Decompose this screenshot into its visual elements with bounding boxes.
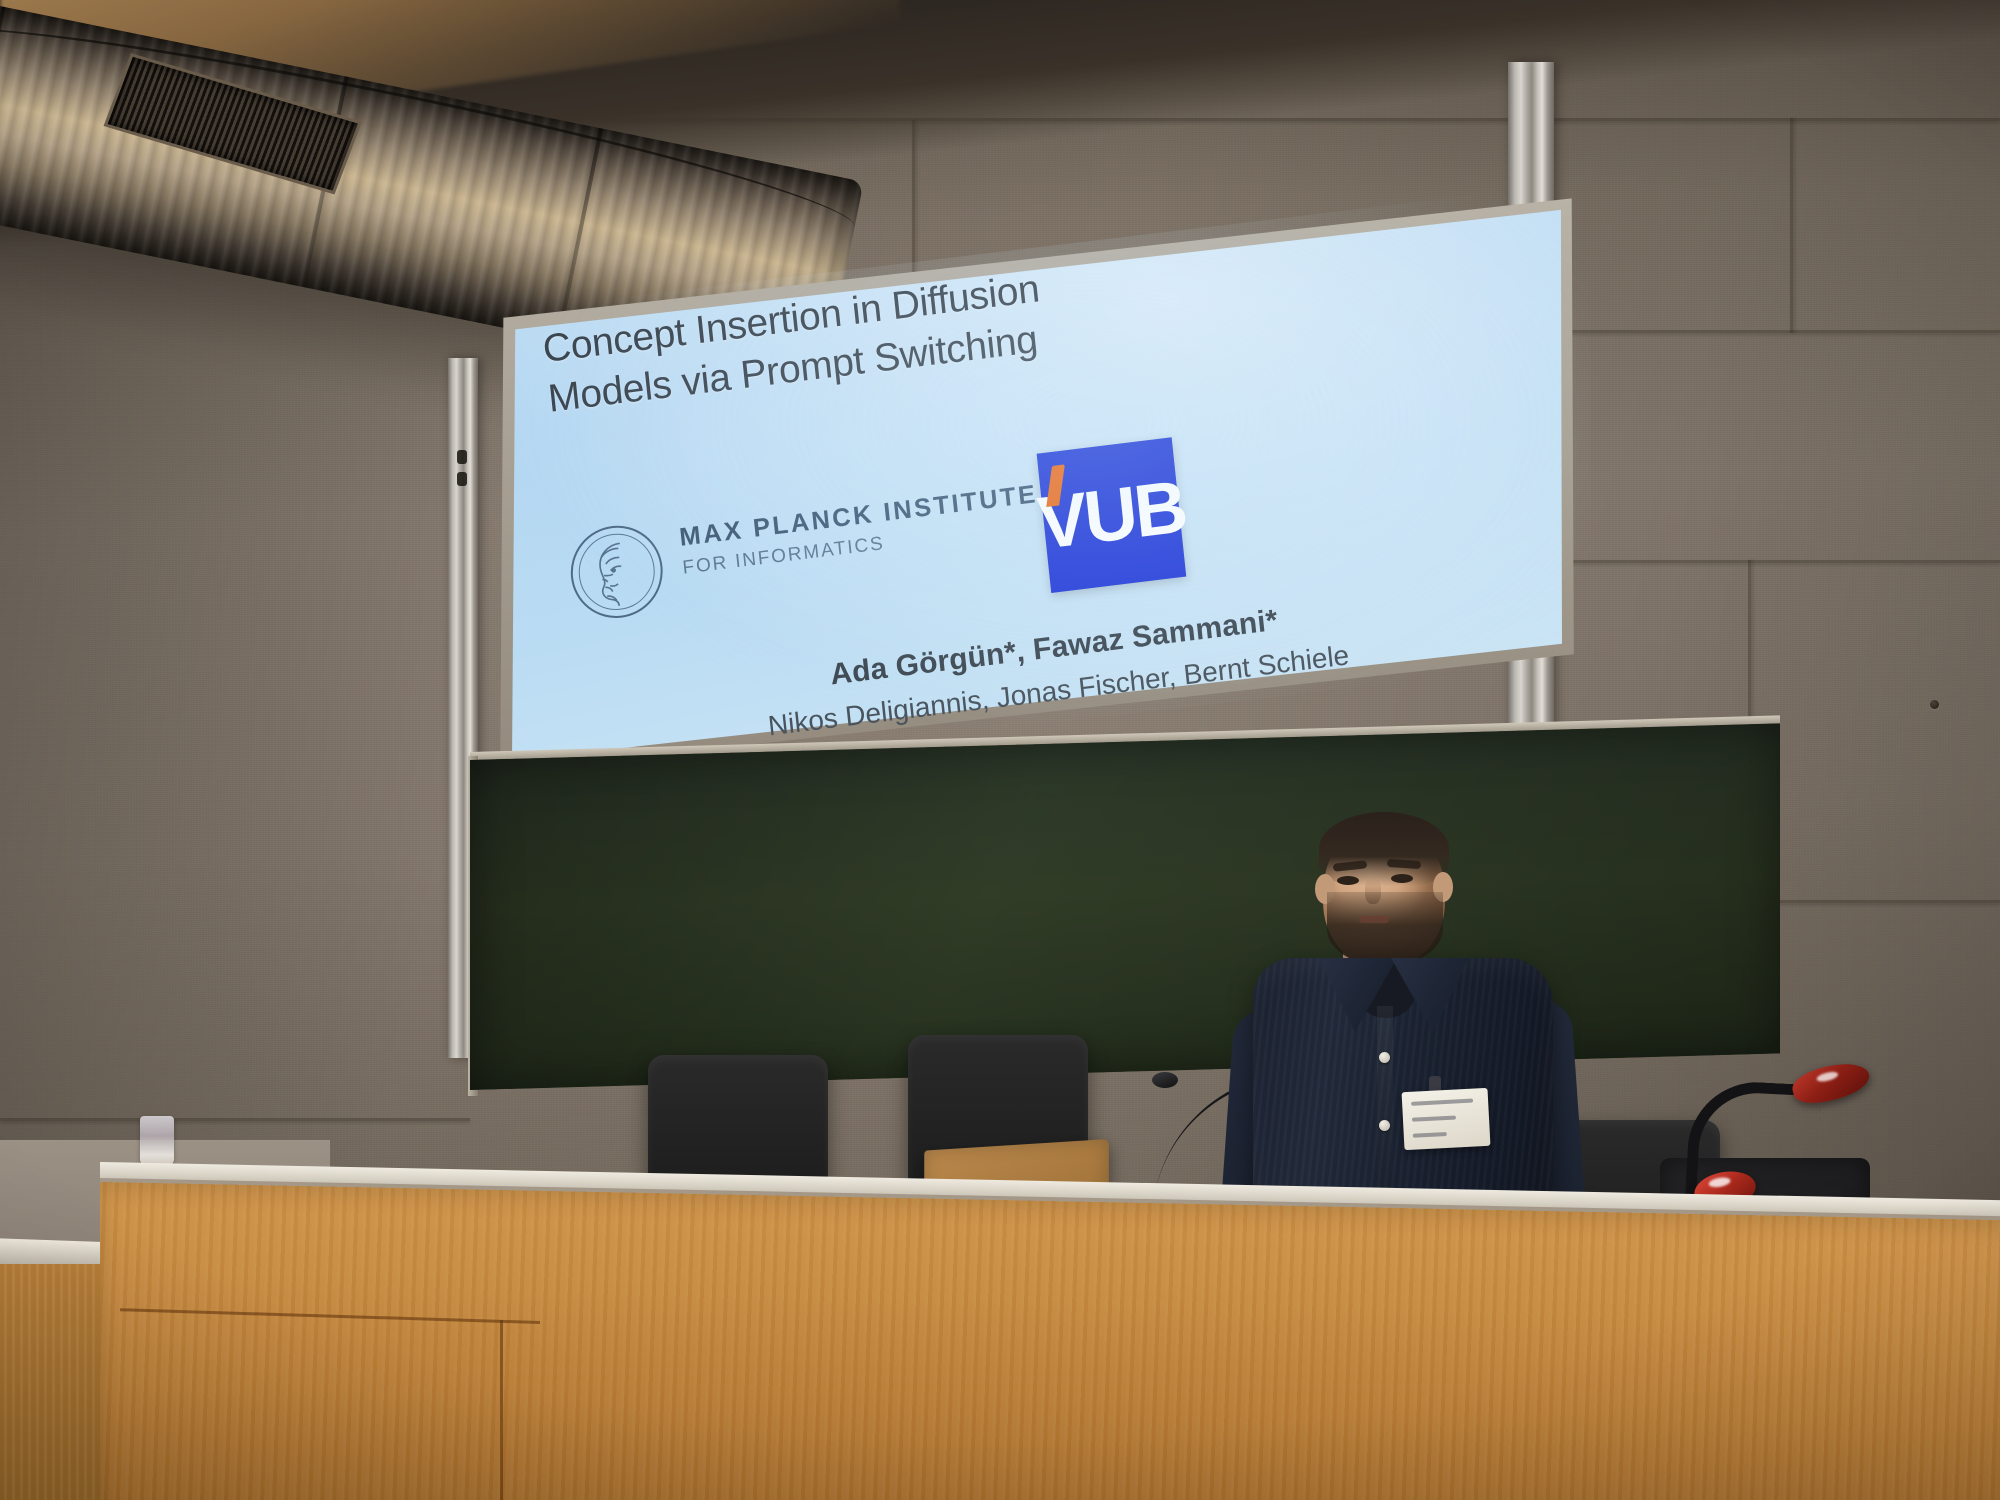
wall-seam: [1790, 118, 1793, 333]
wall-seam: [0, 1118, 470, 1121]
minerva-profile-icon: [586, 536, 655, 613]
drinking-glass: [140, 1116, 174, 1166]
logo-row: MAX PLANCK INSTITUTE FOR INFORMATICS VUB: [565, 440, 1194, 643]
lecture-hall-photo: Concept Insertion in Diffusion Models vi…: [0, 0, 2000, 1500]
lectern-front-face: [100, 1182, 2000, 1500]
name-badge: [1402, 1088, 1491, 1150]
lectern-left-face: [0, 1264, 110, 1500]
presenter-beard: [1327, 892, 1443, 966]
lectern-panel-seam: [120, 1308, 540, 1324]
presenter-mouth: [1359, 916, 1389, 923]
projection-screen: Concept Insertion in Diffusion Models vi…: [498, 196, 1576, 776]
shirt-button: [1379, 1052, 1390, 1063]
minerva-head-seal-icon: [566, 520, 667, 623]
presenter-eye: [1391, 874, 1413, 883]
presenter-hair: [1319, 812, 1449, 886]
boom-microphone-head: [1152, 1072, 1178, 1088]
shirt-button: [1379, 1120, 1390, 1131]
vub-logo: VUB: [1037, 437, 1187, 593]
wall-tie-hole: [1930, 700, 1939, 709]
wall-seam: [1560, 560, 2000, 563]
microphone-capsule: [1789, 1057, 1873, 1109]
mpi-wordmark: MAX PLANCK INSTITUTE FOR INFORMATICS: [678, 480, 1042, 580]
presenter-eye: [1337, 876, 1359, 885]
slide-title: Concept Insertion in Diffusion Models vi…: [541, 240, 1246, 425]
wooden-lectern: [0, 1152, 2000, 1500]
lectern-panel-seam: [500, 1320, 503, 1500]
